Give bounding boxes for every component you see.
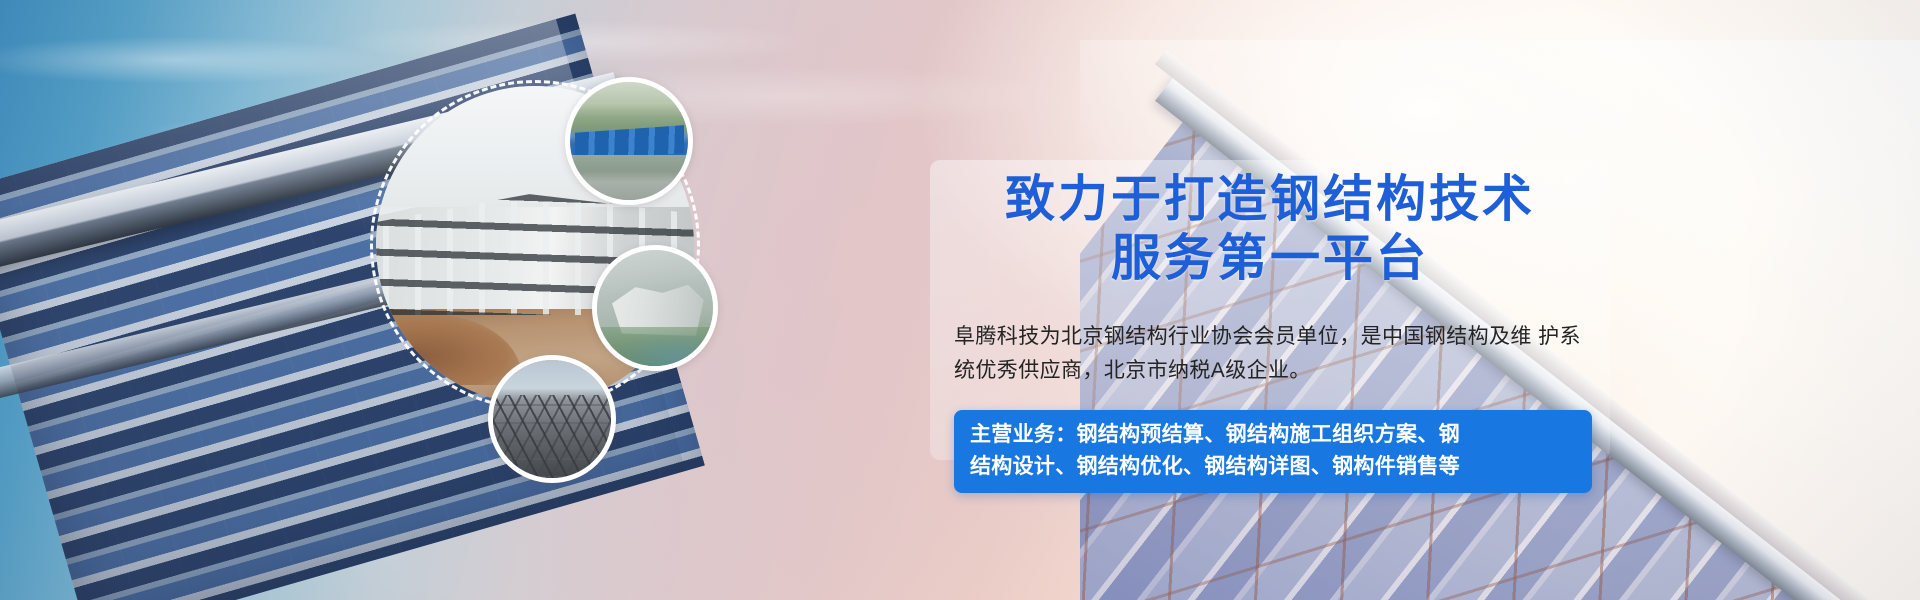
services-badge-line-1: 主营业务：钢结构预结算、钢结构施工组织方案、钢 — [970, 419, 1576, 451]
headline: 致力于打造钢结构技术 服务第一平台 — [930, 170, 1610, 288]
steel-truss-structure-circle — [488, 355, 616, 483]
aerial-industrial-park-circle — [592, 245, 718, 371]
company-description: 阜腾科技为北京钢结构行业协会会员单位，是中国钢结构及维 护系统优秀供应商，北京市… — [954, 320, 1594, 388]
services-badge: 主营业务：钢结构预结算、钢结构施工组织方案、钢 结构设计、钢结构优化、钢结构详图… — [954, 410, 1592, 493]
services-badge-line-2: 结构设计、钢结构优化、钢结构详图、钢构件销售等 — [970, 451, 1576, 483]
aerial-industrial-park-photo — [597, 250, 713, 366]
headline-line-2: 服务第一平台 — [930, 229, 1610, 288]
aerial-blue-roof-factory-photo — [570, 82, 688, 200]
steel-truss-structure-photo — [493, 360, 611, 478]
aerial-blue-roof-factory-circle — [565, 77, 693, 205]
circle-photo-collage — [360, 55, 780, 485]
company-description-line-1: 阜腾科技为北京钢结构行业协会会员单位，是中国钢结构及维 — [954, 325, 1532, 348]
hero-banner: 致力于打造钢结构技术 服务第一平台 阜腾科技为北京钢结构行业协会会员单位，是中国… — [0, 0, 1920, 600]
text-panel: 致力于打造钢结构技术 服务第一平台 阜腾科技为北京钢结构行业协会会员单位，是中国… — [930, 160, 1610, 460]
headline-line-1: 致力于打造钢结构技术 — [930, 170, 1610, 229]
